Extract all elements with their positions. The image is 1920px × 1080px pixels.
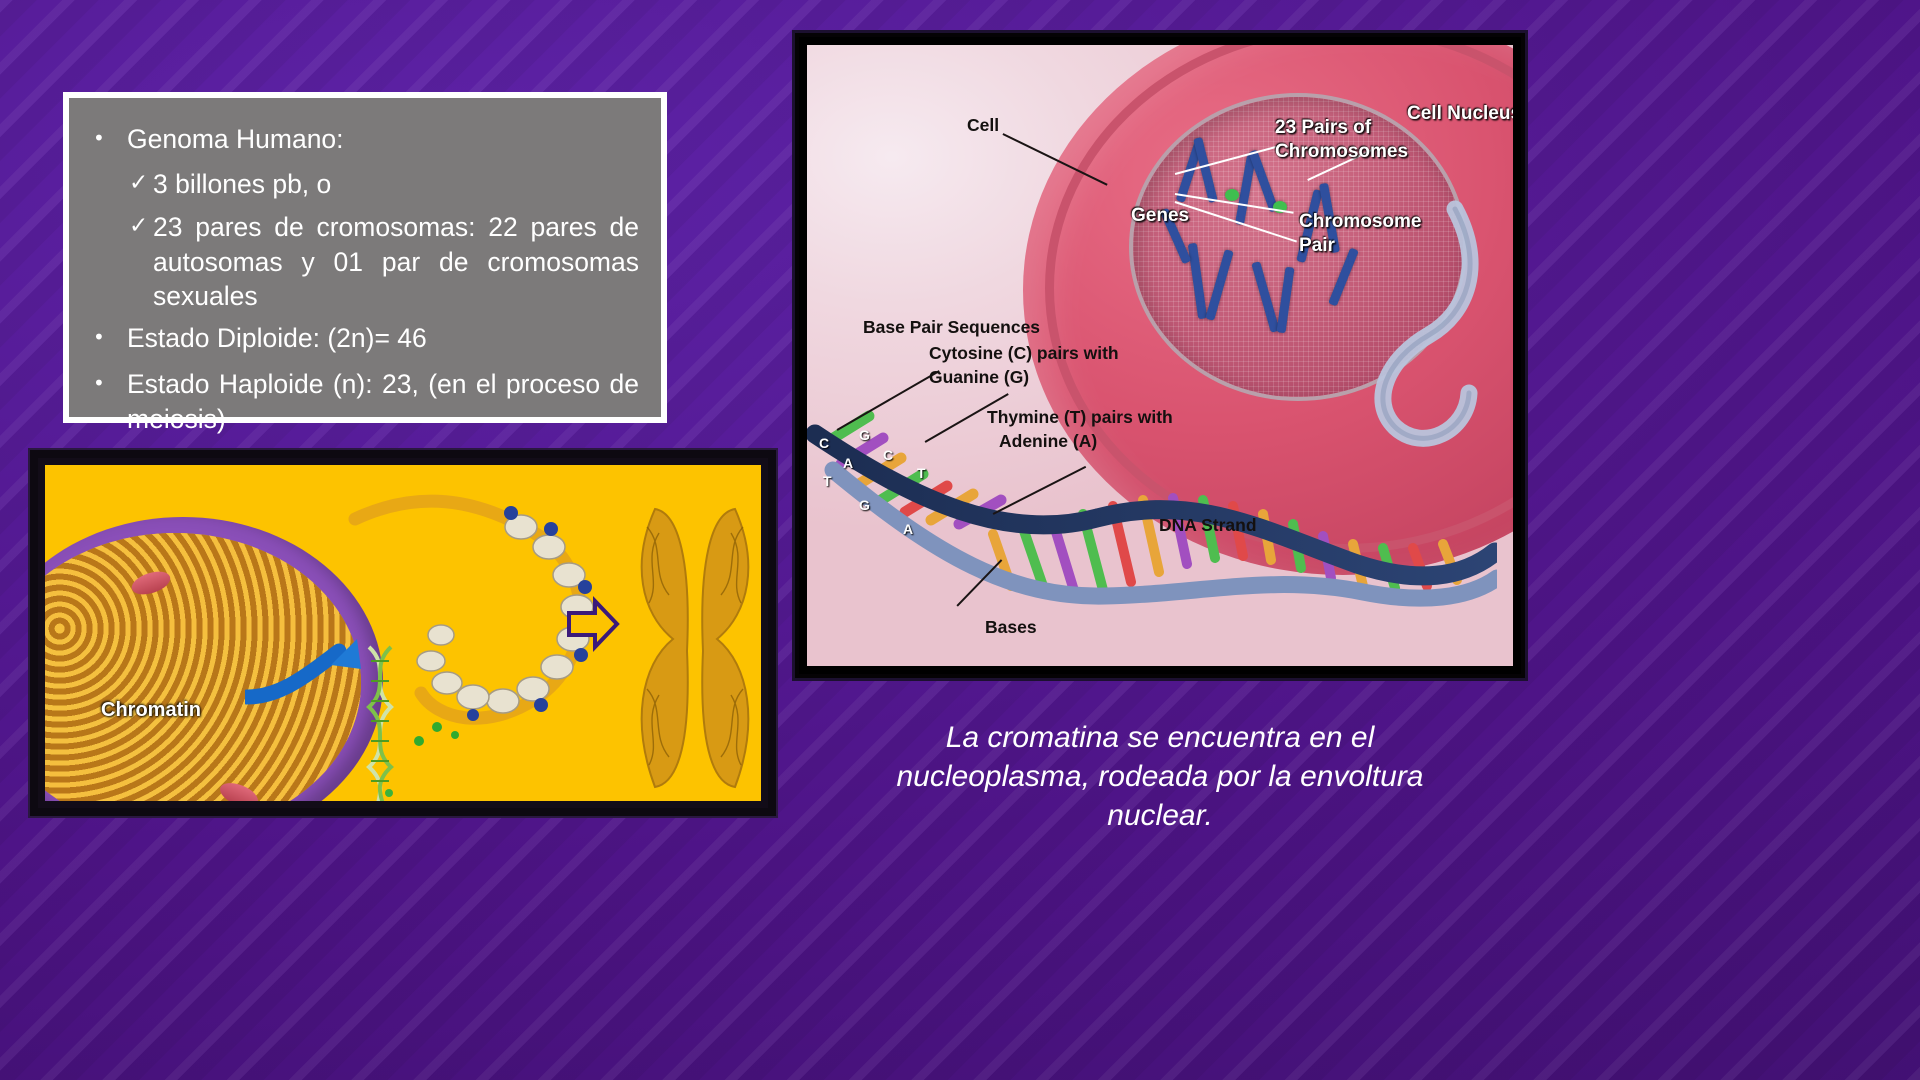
label-bases: Bases <box>985 617 1037 638</box>
label-genes: Genes <box>1131 205 1189 227</box>
checkmark-icon: ✓ <box>83 162 129 204</box>
chromosome-x-shape <box>625 503 761 793</box>
label-chromosome-pairs-count: 23 Pairs of <box>1275 117 1371 139</box>
bullet-text: 23 pares de cromosomas: 22 pares de auto… <box>129 205 639 314</box>
dna-cell-figure-canvas: C G A C T T G A Cell Genes 23 Pairs of C… <box>807 45 1513 666</box>
label-base-pair-sequences: Base Pair Sequences <box>863 317 1040 338</box>
bullet-item: ✓ 3 billones pb, o <box>83 162 639 204</box>
slide-caption: La cromatina se encuentra en el nucleopl… <box>860 718 1460 835</box>
bullet-item: • Estado Haploide (n): 23, (en el proces… <box>83 361 639 436</box>
bullet-marker-icon: • <box>83 361 127 405</box>
label-dna-strand: DNA Strand <box>1159 515 1257 536</box>
bullet-item: ✓ 23 pares de cromosomas: 22 pares de au… <box>83 205 639 314</box>
label-guanine: Guanine (G) <box>929 367 1029 388</box>
bullet-marker-icon: • <box>83 116 127 160</box>
chromatin-figure: Chromatin <box>30 450 776 816</box>
chromatin-figure-canvas: Chromatin <box>45 465 761 801</box>
label-cytosine: Cytosine (C) pairs with <box>929 343 1119 364</box>
base-letter: T <box>917 465 926 481</box>
bullet-marker-icon: • <box>83 315 127 359</box>
checkmark-icon: ✓ <box>83 205 129 247</box>
purple-arrow-icon <box>565 595 621 653</box>
bullet-text: 3 billones pb, o <box>129 162 639 202</box>
label-cell-nucleus: Cell Nucleus <box>1407 103 1513 125</box>
dna-cell-figure: C G A C T T G A Cell Genes 23 Pairs of C… <box>795 33 1525 678</box>
base-letter: T <box>823 473 832 489</box>
base-letter: C <box>883 447 893 463</box>
bullet-item: • Genoma Humano: <box>83 116 639 160</box>
label-thymine: Thymine (T) pairs with <box>987 407 1173 428</box>
base-letter: A <box>903 521 913 537</box>
chromosome-shape <box>1193 137 1218 203</box>
label-cell: Cell <box>967 115 999 136</box>
bullet-text: Estado Diploide: (2n)= 46 <box>127 315 639 355</box>
bullet-text: Genoma Humano: <box>127 116 639 156</box>
base-letter: G <box>859 427 870 443</box>
bullet-item: • Estado Diploide: (2n)= 46 <box>83 315 639 359</box>
base-letter: A <box>843 455 853 471</box>
label-chromosome-pair: Chromosome <box>1299 211 1421 233</box>
label-chromosome-pair-line2: Pair <box>1299 235 1335 257</box>
chromatin-label: Chromatin <box>101 699 201 722</box>
base-letter: G <box>859 497 870 513</box>
base-letter: C <box>819 435 829 451</box>
content-textbox: • Genoma Humano: ✓ 3 billones pb, o ✓ 23… <box>63 92 667 423</box>
label-chromosome-pairs-count-line2: Chromosomes <box>1275 141 1408 163</box>
label-adenine: Adenine (A) <box>999 431 1097 452</box>
bullet-text: Estado Haploide (n): 23, (en el proceso … <box>127 361 639 436</box>
